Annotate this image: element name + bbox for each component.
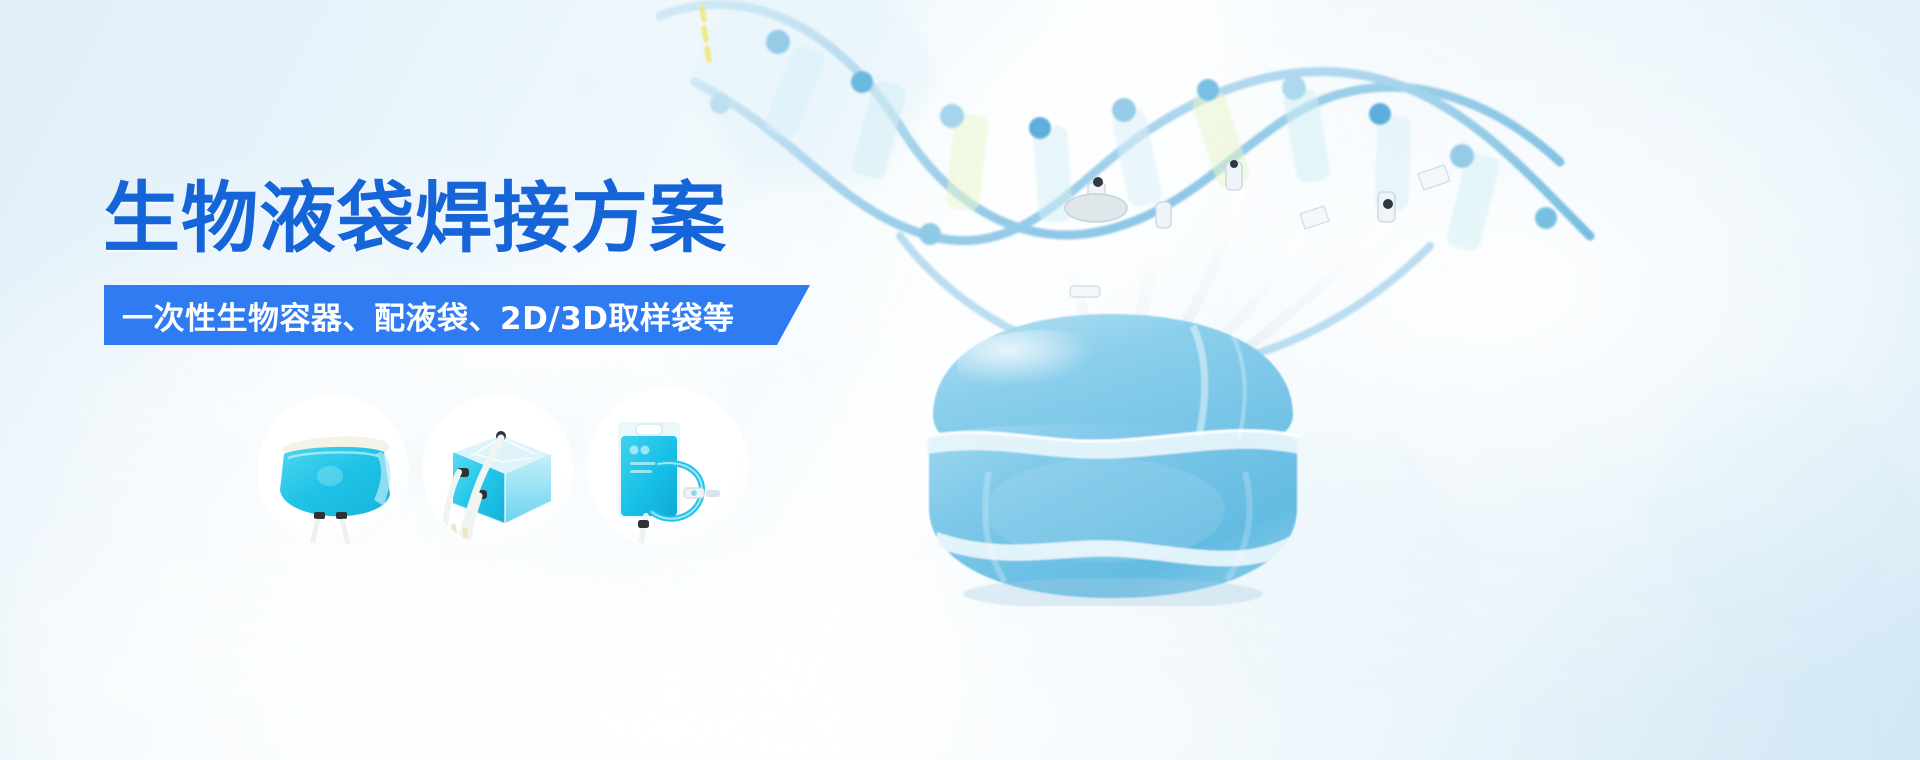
subtitle-text: 一次性生物容器、配液袋、2D/3D取样袋等 xyxy=(104,293,734,338)
product-thumbnail-list xyxy=(258,388,878,553)
liquid-bag-3d-icon xyxy=(423,396,573,546)
sampling-bag-icon xyxy=(588,388,748,548)
bioprocess-bag-icon xyxy=(893,296,1333,606)
liquid-bag-2d-icon xyxy=(258,396,408,546)
promo-banner: 生物液袋焊接方案 一次性生物容器、配液袋、2D/3D取样袋等 xyxy=(0,0,1920,760)
subtitle-banner: 一次性生物容器、配液袋、2D/3D取样袋等 xyxy=(104,285,810,345)
page-title: 生物液袋焊接方案 xyxy=(103,181,727,258)
list-item[interactable] xyxy=(423,396,573,546)
list-item[interactable] xyxy=(588,388,748,548)
list-item[interactable] xyxy=(258,396,408,546)
